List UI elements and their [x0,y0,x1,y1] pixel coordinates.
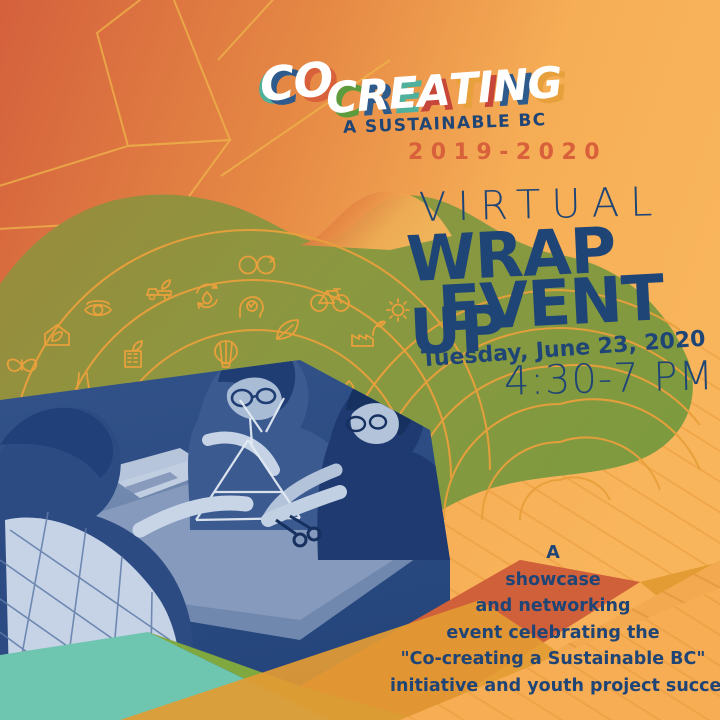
blurb-line: and networking [390,593,716,620]
blurb-line: A [390,540,716,567]
event-poster: CO CREATING A SUSTAINABLE BC 2019-2020 V… [0,0,720,720]
description-blurb: A showcase and networking event celebrat… [390,540,716,700]
years-label: 2019-2020 [408,140,607,165]
blurb-line: "Co-creating a Sustainable BC" [390,646,716,673]
blurb-line: showcase [390,567,716,594]
event-time: 4:30-7 PM [503,353,714,404]
blurb-line: initiative and youth project successes. [390,673,716,700]
blurb-line: event celebrating the [390,620,716,647]
logo-word-co: CO [258,51,335,113]
